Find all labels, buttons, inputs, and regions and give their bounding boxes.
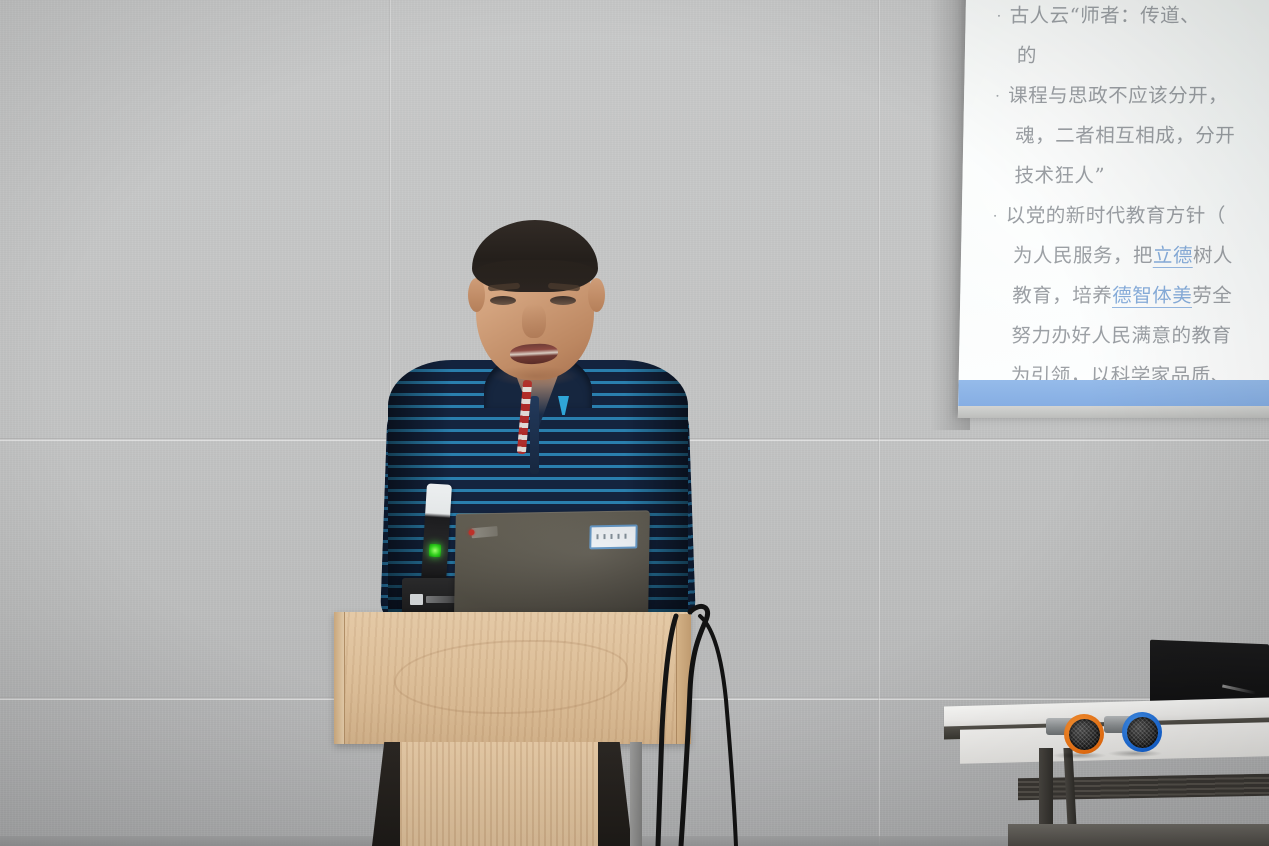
shirt-placket	[530, 396, 539, 474]
slide-text-segment-6-1: 立德	[1153, 244, 1193, 268]
slide-text-segment-7-1: 德智体美	[1112, 284, 1192, 308]
handheld-microphone-orange	[1046, 712, 1108, 758]
thinkpad-logo-dot-icon	[468, 529, 474, 535]
wall-seam-vertical-right	[878, 0, 880, 846]
slide-line-3: 魂，二者相互相成，分开	[1007, 116, 1269, 156]
slide-line-5: ·以党的新时代教育方针（	[1005, 196, 1269, 236]
slide-text-segment-7-2: 劳全	[1192, 284, 1232, 307]
slide-line-0: ·古人云“师者：传道、	[1009, 0, 1269, 36]
lectern-right-edge	[676, 614, 691, 744]
slide-text-segment-6-2: 树人	[1193, 244, 1233, 267]
lectern-right-post	[630, 742, 642, 846]
lecture-hall-photo: ·古人云“师者：传道、的·课程与思政不应该分开，魂，二者相互相成，分开技术狂人”…	[0, 0, 1269, 846]
mic-grille-orange	[1069, 719, 1100, 750]
slide-text-4: 技术狂人”	[1014, 164, 1105, 187]
lectern-left-edge	[334, 612, 345, 744]
slide-text-1: 的	[1017, 44, 1037, 67]
laptop-asset-label	[589, 525, 637, 550]
slide-text-0: 古人云“师者：传道、	[1009, 4, 1200, 27]
slide-text-8: 努力办好人民满意的教育	[1011, 324, 1231, 347]
lectern-column	[400, 742, 598, 846]
screen-bottom-bezel	[958, 406, 1269, 418]
presenter-eye-left	[490, 296, 516, 305]
wood-grain-detail	[394, 640, 628, 714]
slide-line-7: 教育，培养德智体美劳全	[1004, 276, 1269, 316]
slide-footer-band	[958, 380, 1269, 406]
projection-screen: ·古人云“师者：传道、的·课程与思政不应该分开，魂，二者相互相成，分开技术狂人”…	[958, 0, 1269, 418]
mic-status-led-icon	[429, 544, 442, 558]
slide-bullet-icon: ·	[995, 76, 1001, 116]
slide-text-segment-6-0: 为人民服务，把	[1013, 244, 1153, 267]
thinkpad-logo-icon	[471, 526, 498, 538]
slide-line-1: 的	[1008, 36, 1269, 76]
handheld-microphone-blue	[1104, 710, 1166, 756]
asset-label-barcode-icon	[596, 534, 630, 540]
slide-text-block: ·古人云“师者：传道、的·课程与思政不应该分开，魂，二者相互相成，分开技术狂人”…	[1002, 0, 1269, 418]
slide-text-2: 课程与思政不应该分开，	[1008, 84, 1228, 107]
presenter-ear-right	[588, 278, 605, 312]
conference-table-rail	[1018, 774, 1269, 800]
slide-text-5: 以党的新时代教育方针（	[1006, 204, 1226, 227]
presenter-nose	[522, 304, 546, 338]
slide-text-3: 魂，二者相互相成，分开	[1015, 124, 1235, 147]
presenter-eye-right	[550, 296, 576, 305]
presenter-chin-shadow	[492, 366, 578, 386]
conference-table-base	[1008, 824, 1269, 846]
lectern-top-panel	[334, 612, 690, 744]
mic-grille-blue	[1127, 717, 1158, 748]
slide-bullet-icon: ·	[992, 196, 998, 236]
presenter-hair	[472, 220, 598, 292]
slide-bullet-icon: ·	[996, 0, 1002, 36]
mic-base-logo-icon	[410, 594, 423, 605]
slide-line-4: 技术狂人”	[1006, 156, 1269, 196]
slide-line-6: 为人民服务，把立德树人	[1005, 236, 1269, 276]
slide-line-2: ·课程与思政不应该分开，	[1008, 76, 1269, 116]
slide-line-8: 努力办好人民满意的教育	[1003, 316, 1269, 356]
thinkpad-laptop	[454, 510, 650, 617]
slide-text-segment-7-0: 教育，培养	[1012, 284, 1112, 307]
